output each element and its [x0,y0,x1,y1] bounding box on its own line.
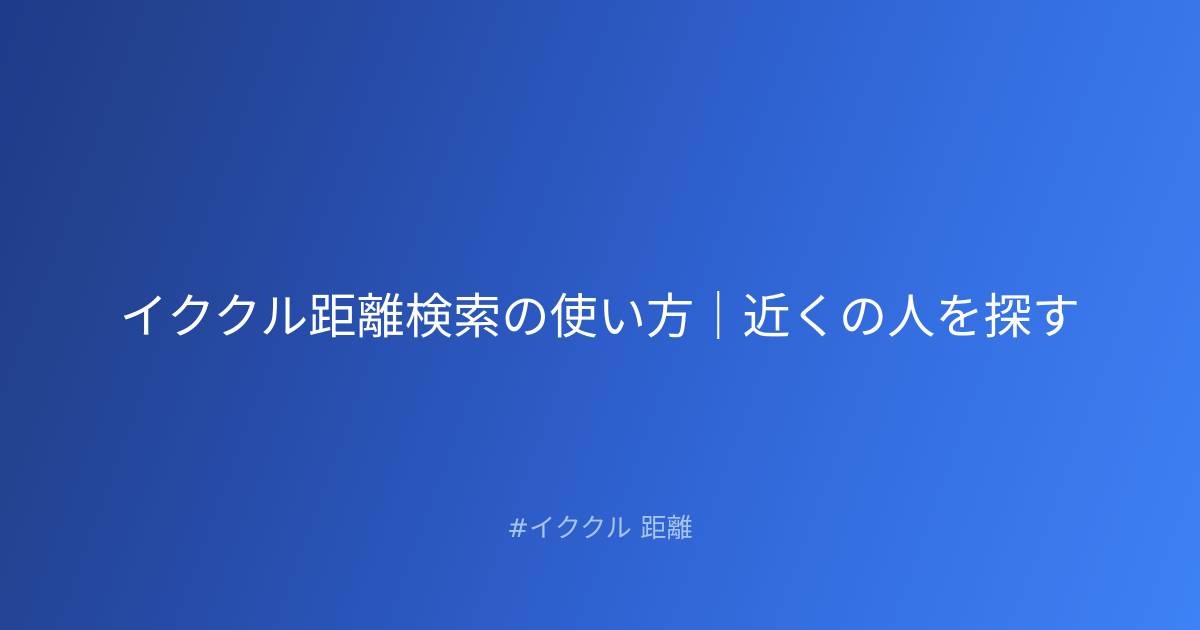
tag-container: #イククル 距離 [0,512,1200,547]
title-container: イククル距離検索の使い方｜近くの人を探す [0,286,1200,349]
share-card: イククル距離検索の使い方｜近くの人を探す #イククル 距離 [0,0,1200,630]
hashtag-label: #イククル 距離 [507,512,693,547]
page-title: イククル距離検索の使い方｜近くの人を探す [120,286,1080,349]
